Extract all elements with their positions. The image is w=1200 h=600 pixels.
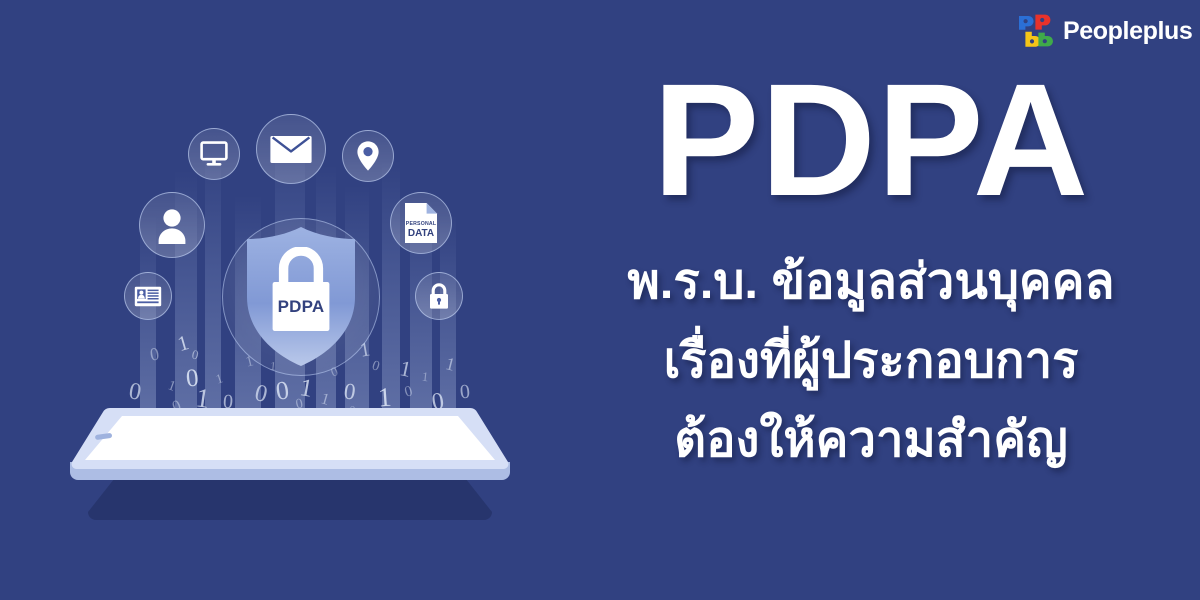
subtitle-line-3: ต้องให้ความสำคัญ: [566, 416, 1176, 465]
icon-bubble-monitor[interactable]: [188, 128, 240, 180]
personal-data-document-icon: PERSONAL DATA: [404, 202, 438, 244]
icon-bubble-person[interactable]: [139, 192, 205, 258]
icon-bubble-location[interactable]: [342, 130, 394, 182]
peopleplus-logo-mark: [1016, 12, 1054, 50]
shield-lock-label: PDPA: [267, 298, 335, 315]
pdpa-illustration: 1 0 0 1 1 0 0 0 1 0 1 0 1 0 1 0 1 0 0 1 …: [0, 0, 566, 600]
icon-bubble-id-card[interactable]: [124, 272, 172, 320]
brand-logo[interactable]: Peopleplus: [1016, 11, 1192, 51]
padlock-icon: [427, 283, 451, 310]
user-icon: [153, 206, 191, 244]
document-line-data: DATA: [404, 229, 438, 239]
monitor-icon: [200, 141, 228, 167]
icon-bubble-lock[interactable]: [415, 272, 463, 320]
document-line-personal: PERSONAL: [404, 222, 438, 227]
icon-bubble-personal-data[interactable]: PERSONAL DATA: [390, 192, 452, 254]
pdpa-banner: 1 0 0 1 1 0 0 0 1 0 1 0 1 0 1 0 1 0 0 1 …: [0, 0, 1200, 600]
envelope-icon: [270, 134, 312, 165]
binary-digit: 0: [370, 359, 381, 374]
shield-lock-icon: PDPA: [267, 247, 335, 333]
binary-digit: 0: [191, 347, 200, 361]
binary-digit: 0: [149, 344, 161, 363]
subtitle-line-1: พ.ร.บ. ข้อมูลส่วนบุคคล: [566, 258, 1176, 307]
shield-graphic: PDPA: [241, 225, 361, 368]
brand-name: Peopleplus: [1063, 19, 1192, 44]
binary-digit: 1: [421, 370, 429, 384]
icon-bubble-email[interactable]: [256, 114, 326, 184]
subtitle-line-2: เรื่องที่ผู้ประกอบการ: [566, 337, 1176, 386]
page-title: PDPA: [566, 62, 1176, 230]
headline-block: PDPA พ.ร.บ. ข้อมูลส่วนบุคคล เรื่องที่ผู้…: [566, 62, 1176, 532]
map-pin-icon: [356, 140, 380, 172]
id-card-icon: [134, 286, 162, 307]
tablet-device: [40, 390, 540, 530]
